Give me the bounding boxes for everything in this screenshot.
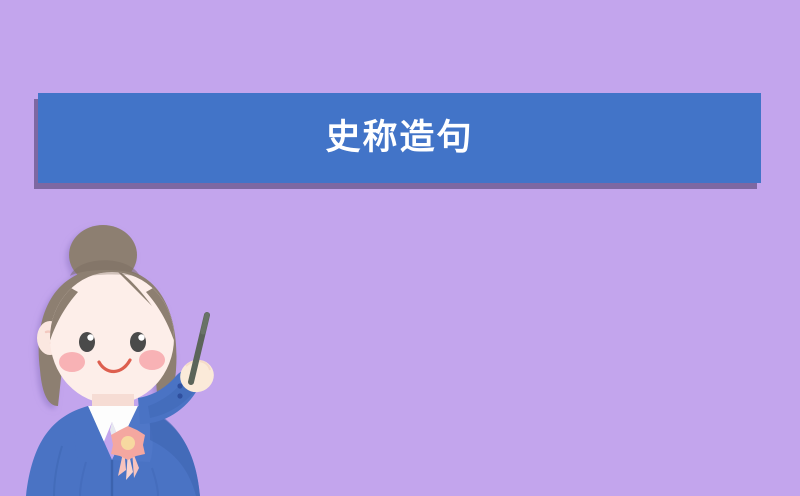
left-eye — [79, 332, 95, 352]
right-eye — [130, 332, 146, 352]
title-banner: 史称造句 — [38, 93, 761, 183]
badge-center — [121, 436, 135, 450]
left-blush — [59, 352, 85, 372]
teacher-illustration — [0, 210, 260, 496]
page-title: 史称造句 — [325, 121, 473, 156]
right-blush — [139, 350, 165, 370]
page-root: 史称造句 — [0, 0, 800, 496]
